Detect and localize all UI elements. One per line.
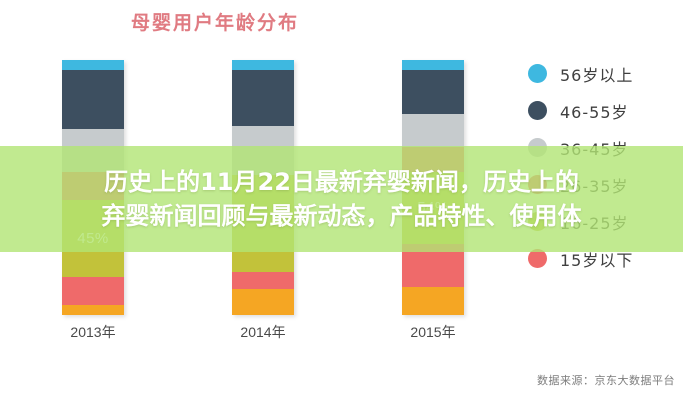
x-axis-tick-2014: 2014年 [203, 322, 323, 342]
segment-15-under [232, 272, 294, 290]
segment-56-plus [62, 60, 124, 70]
segment-56-plus [232, 60, 294, 70]
x-axis-tick-2013: 2013年 [33, 322, 153, 342]
segment-other [232, 289, 294, 315]
x-axis-tick-2015: 2015年 [373, 322, 493, 342]
segment-46-55 [62, 70, 124, 129]
headline-line-2: 弃婴新闻回顾与最新动态，产品特性、使用体 [102, 199, 582, 233]
headline-line-1: 历史上的11月22日最新弃婴新闻，历史上的 [104, 165, 579, 199]
headline-overlay-text: 历史上的11月22日最新弃婴新闻，历史上的 弃婴新闻回顾与最新动态，产品特性、使… [0, 148, 683, 250]
legend-swatch-icon [528, 101, 547, 120]
page-title: 母婴用户年龄分布 [0, 8, 430, 35]
source-note: 数据来源：京东大数据平台 [537, 372, 675, 388]
chart-canvas: 母婴用户年龄分布 45% [0, 0, 683, 400]
legend-label: 46-55岁 [560, 99, 629, 123]
segment-56-plus [402, 60, 464, 70]
segment-36-45 [402, 114, 464, 147]
segment-other [402, 287, 464, 315]
legend-item-56-plus[interactable]: 56岁以上 [528, 55, 678, 92]
legend-item-46-55[interactable]: 46-55岁 [528, 92, 678, 129]
segment-15-under [62, 277, 124, 305]
segment-46-55 [232, 70, 294, 126]
legend-label: 56岁以上 [560, 62, 633, 86]
segment-46-55 [402, 70, 464, 113]
segment-other [62, 305, 124, 315]
legend-swatch-icon [528, 64, 547, 83]
